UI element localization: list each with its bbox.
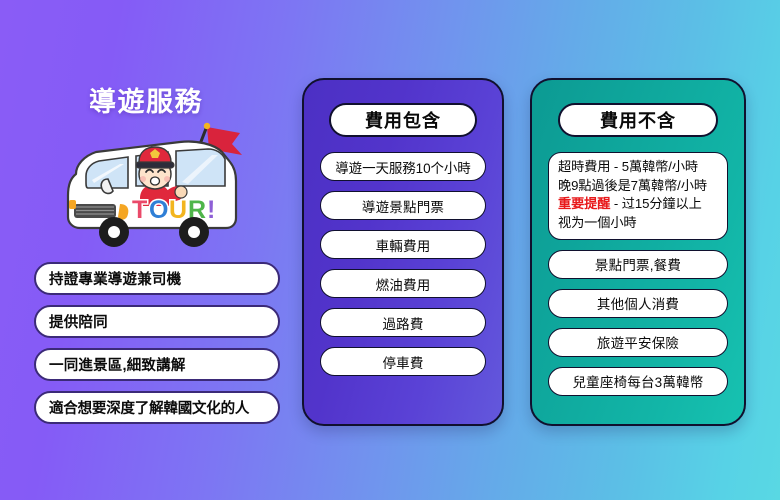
- left-feature-item-1: 持證專業導遊兼司機: [34, 262, 280, 295]
- cost-excluded-item-4: 兒童座椅每台3萬韓幣: [548, 367, 728, 396]
- svg-text:U: U: [169, 196, 187, 224]
- svg-text:O: O: [149, 196, 168, 224]
- cost-excluded-header: 費用不含: [558, 103, 718, 137]
- cost-included-item-6: 停車費: [320, 347, 486, 376]
- cost-excluded-item-1: 景點門票,餐費: [548, 250, 728, 279]
- poster-canvas: 導遊服務: [0, 0, 780, 500]
- svg-text:!: !: [207, 196, 215, 224]
- cost-included-item-5: 過路費: [320, 308, 486, 337]
- cost-included-item-2: 導遊景點門票: [320, 191, 486, 220]
- important-reminder-label: 重要提醒: [558, 196, 610, 211]
- cost-included-header: 費用包含: [329, 103, 477, 137]
- cost-included-item-1: 導遊一天服務10个小時: [320, 152, 486, 181]
- cost-included-card: 費用包含 導遊一天服務10个小時 導遊景點門票 車輛費用 燃油費用 過路費 停車…: [302, 78, 504, 426]
- left-feature-list: 持證專業導遊兼司機 提供陪同 一同進景區,細致講解 適合想要深度了解韓國文化的人: [34, 262, 280, 424]
- cost-excluded-item-3: 旅遊平安保險: [548, 328, 728, 357]
- page-title: 導遊服務: [0, 80, 292, 119]
- overtime-note-line-2: 晚9點過後是7萬韓幣/小時: [558, 177, 719, 196]
- cost-included-list: 導遊一天服務10个小時 導遊景點門票 車輛費用 燃油費用 過路費 停車費: [320, 152, 486, 376]
- cost-excluded-card: 費用不含 超時費用 - 5萬韓幣/小時 晚9點過後是7萬韓幣/小時 重要提醒 -…: [530, 78, 746, 426]
- cost-excluded-item-2: 其他個人消費: [548, 289, 728, 318]
- overtime-note-line-1: 超時費用 - 5萬韓幣/小時: [558, 158, 719, 177]
- overtime-fee-note: 超時費用 - 5萬韓幣/小時 晚9點過後是7萬韓幣/小時 重要提醒 - 过15分…: [548, 152, 728, 240]
- left-feature-item-4: 適合想要深度了解韓國文化的人: [34, 391, 280, 424]
- svg-text:T: T: [132, 196, 147, 224]
- bus-tour-lettering: T O U R !: [132, 196, 215, 224]
- overtime-note-line-3-rest: - 过15分鐘以上: [610, 196, 701, 211]
- overtime-note-line-4: 视为一個小時: [558, 214, 719, 233]
- overtime-note-line-3: 重要提醒 - 过15分鐘以上: [558, 195, 719, 214]
- cost-included-item-3: 車輛費用: [320, 230, 486, 259]
- left-feature-item-3: 一同進景區,細致講解: [34, 348, 280, 381]
- left-feature-item-2: 提供陪同: [34, 305, 280, 338]
- left-column: 導遊服務: [0, 62, 292, 428]
- cost-excluded-list: 超時費用 - 5萬韓幣/小時 晚9點過後是7萬韓幣/小時 重要提醒 - 过15分…: [548, 152, 728, 396]
- tour-bus-illustration: T O U R !: [62, 118, 247, 253]
- cost-included-item-4: 燃油費用: [320, 269, 486, 298]
